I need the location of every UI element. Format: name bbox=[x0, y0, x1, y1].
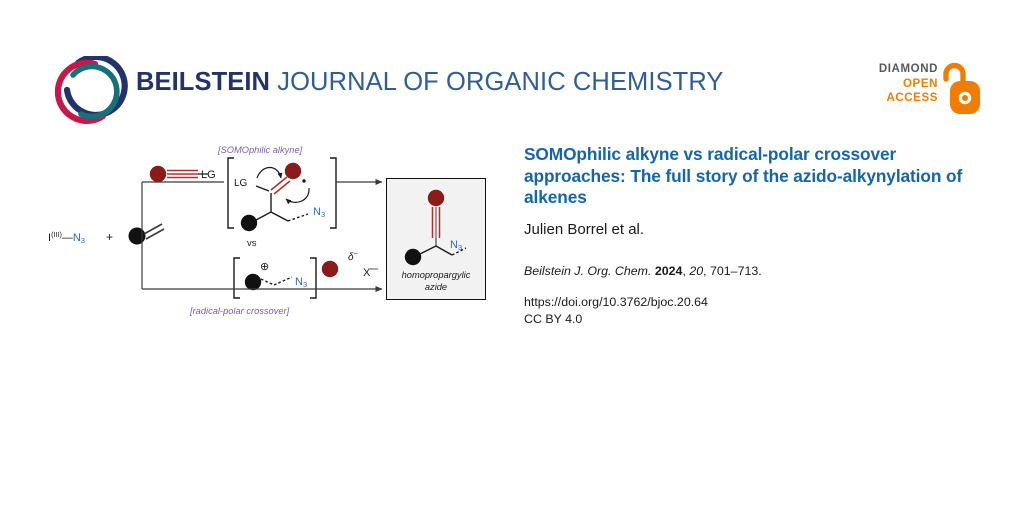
article-doi-link[interactable]: https://doi.org/10.3762/bjoc.20.64 bbox=[524, 295, 708, 309]
scheme-structure-drawing bbox=[38, 136, 500, 336]
article-license: CC BY 4.0 bbox=[524, 312, 582, 326]
wordmark-beilstein: BEILSTEIN bbox=[136, 68, 270, 96]
wordmark-subtitle: JOURNAL OF ORGANIC CHEMISTRY bbox=[270, 68, 723, 96]
open-access-text: DIAMOND OPEN ACCESS bbox=[879, 62, 938, 106]
oa-line-access: ACCESS bbox=[879, 91, 938, 106]
citation-journal: Beilstein J. Org. Chem. bbox=[524, 264, 651, 278]
citation-pages: , 701–713. bbox=[703, 264, 762, 278]
oa-line-open: OPEN bbox=[879, 77, 938, 92]
citation-year: 2024 bbox=[655, 264, 683, 278]
reaction-scheme-graphic: [SOMOphilic alkyne] [radical-polar cross… bbox=[38, 136, 500, 336]
diamond-open-access-badge: DIAMOND OPEN ACCESS bbox=[870, 62, 982, 120]
journal-wordmark: BEILSTEIN JOURNAL OF ORGANIC CHEMISTRY bbox=[136, 68, 724, 97]
open-padlock-icon bbox=[942, 62, 982, 116]
article-doi-block: https://doi.org/10.3762/bjoc.20.64 CC BY… bbox=[524, 294, 976, 328]
citation-volume: 20 bbox=[689, 264, 703, 278]
article-info-panel: SOMOphilic alkyne vs radical-polar cross… bbox=[524, 144, 976, 328]
journal-masthead: BEILSTEIN JOURNAL OF ORGANIC CHEMISTRY D… bbox=[0, 0, 1024, 132]
oa-line-diamond: DIAMOND bbox=[879, 62, 938, 77]
beilstein-triple-arc-logo-icon bbox=[54, 56, 128, 128]
article-citation: Beilstein J. Org. Chem. 2024, 20, 701–71… bbox=[524, 264, 976, 278]
article-title: SOMOphilic alkyne vs radical-polar cross… bbox=[524, 144, 976, 209]
article-authors: Julien Borrel et al. bbox=[524, 221, 976, 238]
